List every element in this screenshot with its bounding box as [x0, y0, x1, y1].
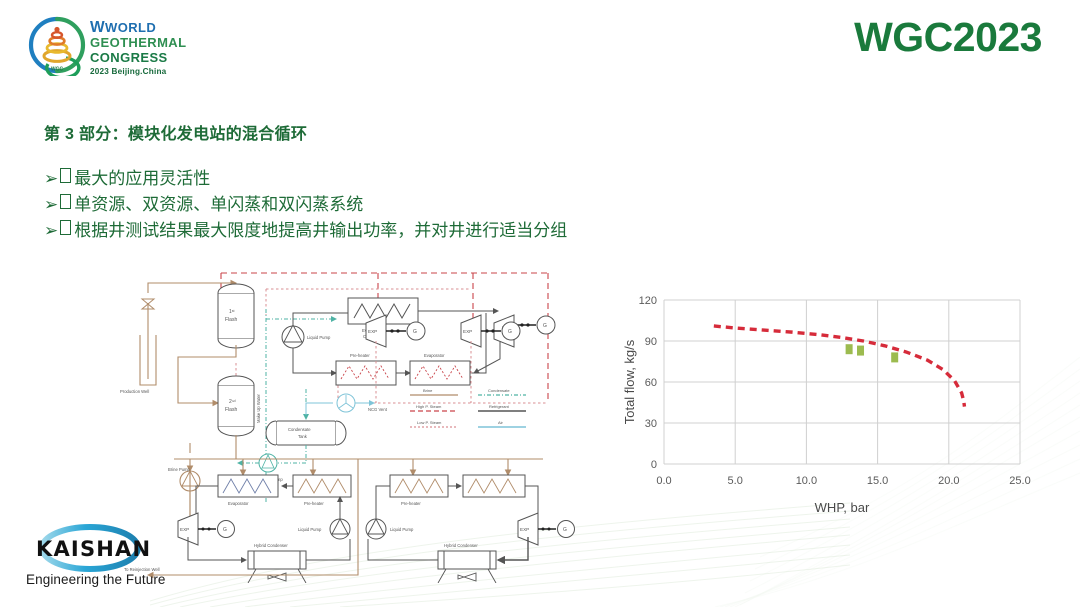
svg-text:Refrigerant: Refrigerant: [489, 404, 510, 409]
label-pre-heater-lower-b: Pre-heater: [401, 501, 421, 506]
list-item: ➢ 单资源、双资源、单闪蒸和双闪蒸系统: [44, 192, 567, 218]
arrow-bullet-icon: ➢: [44, 218, 58, 244]
chart-xtick-label: 5.0: [728, 475, 743, 487]
section-title: 第 3 部分：模块化发电站的混合循环: [44, 120, 307, 144]
label-evaporator-lower-a: Evaporator: [228, 501, 249, 506]
label-flash-2: 2ⁿᵈ: [229, 399, 236, 405]
label-generator-1: G: [543, 323, 547, 329]
kaishan-tagline: Engineering the Future: [26, 572, 166, 587]
chart-xtick-label: 20.0: [938, 475, 959, 487]
label-hybrid-condenser-b: Hybrid Condenser: [444, 543, 478, 548]
label-pre-heater-lower-a: Pre-heater: [304, 501, 324, 506]
hybrid-cycle-process-flow-diagram: Production Well 1ˢᵗ Flash 2ⁿᵈ Flash Brin…: [118, 253, 588, 583]
svg-text:Flash: Flash: [225, 407, 237, 413]
label-make-up-water: Make Up Water: [256, 393, 261, 423]
label-liquid-pump-lower-b: Liquid Pump: [390, 527, 414, 532]
label-production-well: Production Well: [120, 389, 149, 394]
missing-glyph-box-icon: [60, 194, 71, 209]
label-ncg-vent: NCG Vent: [368, 407, 388, 412]
svg-text:Brine: Brine: [423, 388, 433, 393]
kaishan-wordmark: KAISHAN: [36, 537, 151, 561]
label-pre-heater-upper: Pre-heater: [350, 353, 370, 358]
chart-ytick-label: 0: [651, 459, 657, 471]
list-item: ➢ 最大的应用灵活性: [44, 166, 567, 192]
label-generator-lower-b: G: [563, 527, 567, 533]
label-exp-3: EXP: [463, 329, 472, 334]
chart-series-line: [714, 326, 965, 407]
label-generator-3: G: [508, 329, 512, 335]
chart-ytick-label: 30: [645, 418, 657, 430]
list-item-label: 单资源、双资源、单闪蒸和双闪蒸系统: [74, 192, 363, 218]
bullet-list: ➢ 最大的应用灵活性 ➢ 单资源、双资源、单闪蒸和双闪蒸系统 ➢ 根据井测试结果…: [44, 166, 567, 243]
chart-xlabel: WHP, bar: [815, 500, 870, 515]
chart-xtick-label: 0.0: [656, 475, 671, 487]
logo-line-1: WORLD: [105, 20, 156, 35]
arrow-bullet-icon: ➢: [44, 166, 58, 192]
svg-text:Tank: Tank: [298, 434, 308, 439]
label-evaporator-upper: Evaporator: [424, 353, 445, 358]
chart-data-point: [846, 344, 853, 354]
missing-glyph-box-icon: [60, 220, 71, 235]
svg-text:Flash: Flash: [225, 317, 237, 323]
chart-ytick-label: 120: [639, 295, 657, 307]
chart-xtick-label: 25.0: [1009, 475, 1030, 487]
chart-ytick-label: 90: [645, 336, 657, 348]
svg-text:Condensate: Condensate: [488, 388, 510, 393]
label-hybrid-condenser-a: Hybrid Condenser: [254, 543, 288, 548]
label-liquid-pump-upper: Liquid Pump: [307, 335, 331, 340]
wgc-emblem-icon: WGC: [26, 14, 88, 76]
svg-text:WGC: WGC: [51, 67, 64, 73]
wgc-congress-logo: WGC WWORLD GEOTHERMAL CONGRESS 2023 Beij…: [26, 12, 176, 80]
kaishan-logo: KAISHAN Engineering the Future: [18, 524, 168, 596]
label-brine-pump: Brine Pump: [168, 467, 191, 472]
label-exp-lower-b: EXP: [520, 527, 529, 532]
chart-data-point: [891, 352, 898, 362]
logo-line-3: CONGRESS: [90, 51, 186, 66]
label-condensate-tank: Condensate: [288, 427, 311, 432]
label-generator-lower-a: G: [223, 527, 227, 533]
label-generator-2: G: [413, 329, 417, 335]
svg-text:Air: Air: [498, 420, 504, 425]
logo-line-2: GEOTHERMAL: [90, 36, 186, 51]
label-flash-1: 1ˢᵗ: [229, 309, 235, 315]
label-exp-lower-a: EXP: [180, 527, 189, 532]
chart-ylabel: Total flow, kg/s: [622, 339, 637, 424]
label-liquid-pump-lower-a: Liquid Pump: [298, 527, 322, 532]
missing-glyph-box-icon: [60, 168, 71, 183]
logo-subtitle: 2023 Beijing.China: [90, 67, 186, 76]
diagram-legend: Brine High P. Steam Low P. Steam Condens…: [410, 388, 526, 427]
list-item-label: 根据井测试结果最大限度地提高井输出功率，并对井进行适当分组: [74, 218, 567, 244]
page-title: WGC2023: [854, 17, 1042, 58]
list-item: ➢ 根据井测试结果最大限度地提高井输出功率，并对井进行适当分组: [44, 218, 567, 244]
svg-text:Low P. Steam: Low P. Steam: [417, 420, 442, 425]
arrow-bullet-icon: ➢: [44, 192, 58, 218]
svg-text:High P. Steam: High P. Steam: [416, 404, 442, 409]
label-exp-2: EXP: [368, 329, 377, 334]
chart-xtick-label: 10.0: [796, 475, 817, 487]
list-item-label: 最大的应用灵活性: [74, 166, 210, 192]
chart-ytick-label: 60: [645, 377, 657, 389]
chart-xtick-label: 15.0: [867, 475, 888, 487]
chart-data-point: [857, 346, 864, 356]
well-deliverability-chart: 03060901200.05.010.015.020.025.0WHP, bar…: [620, 288, 1060, 520]
slide-canvas: WGC WWORLD GEOTHERMAL CONGRESS 2023 Beij…: [0, 0, 1080, 607]
